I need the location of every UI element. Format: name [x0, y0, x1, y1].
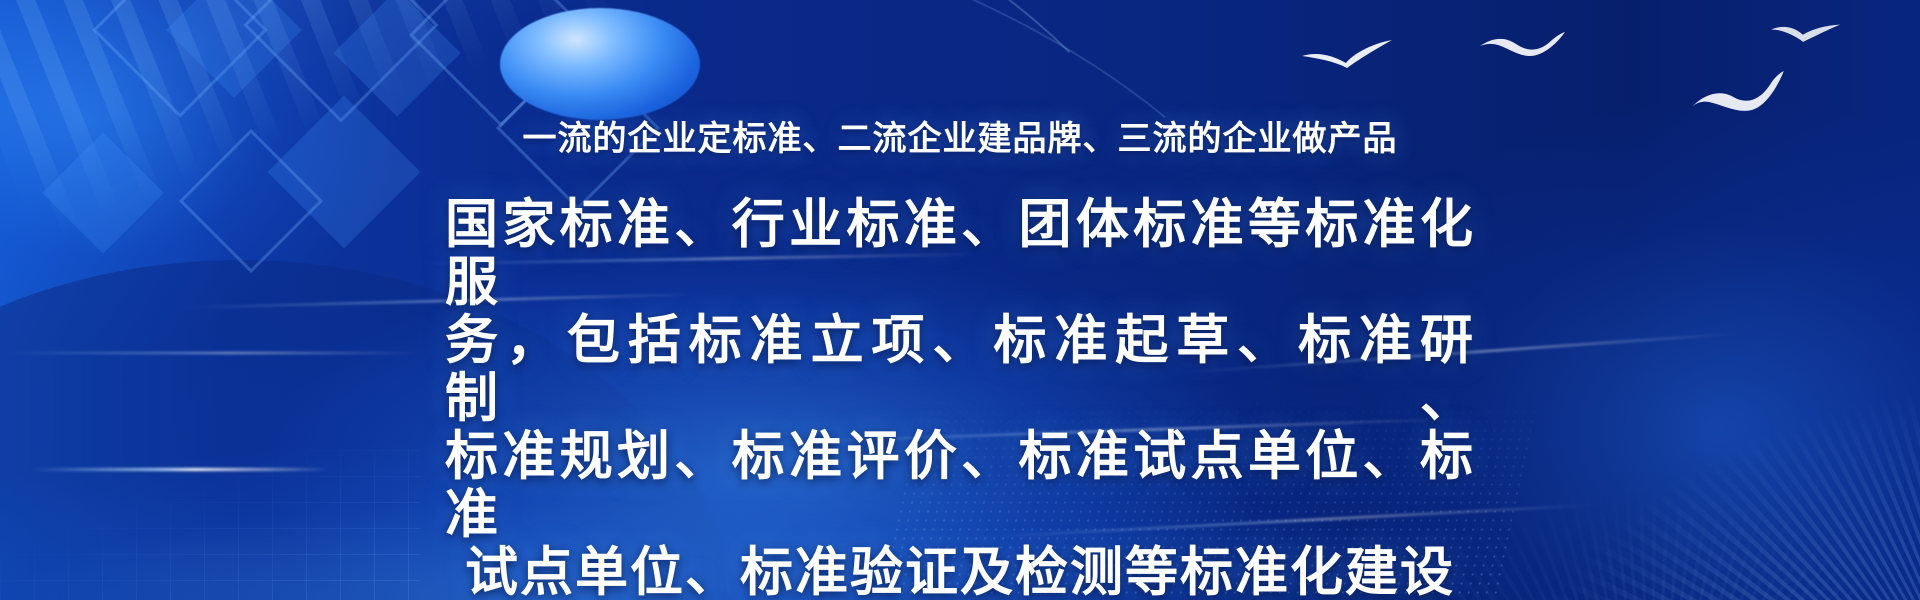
ellipse-highlight [500, 8, 700, 120]
seagull-bird-icon [1478, 30, 1566, 64]
dot-matrix-texture [878, 390, 1543, 600]
light-streak [30, 468, 330, 471]
promo-banner: 一流的企业定标准、二流企业建品牌、三流的企业做产品 国家标准、行业标准、团体标准… [0, 0, 1920, 600]
seagull-bird-icon [1300, 38, 1396, 72]
light-streak [0, 352, 420, 354]
grid-lines-decoration [0, 450, 420, 600]
